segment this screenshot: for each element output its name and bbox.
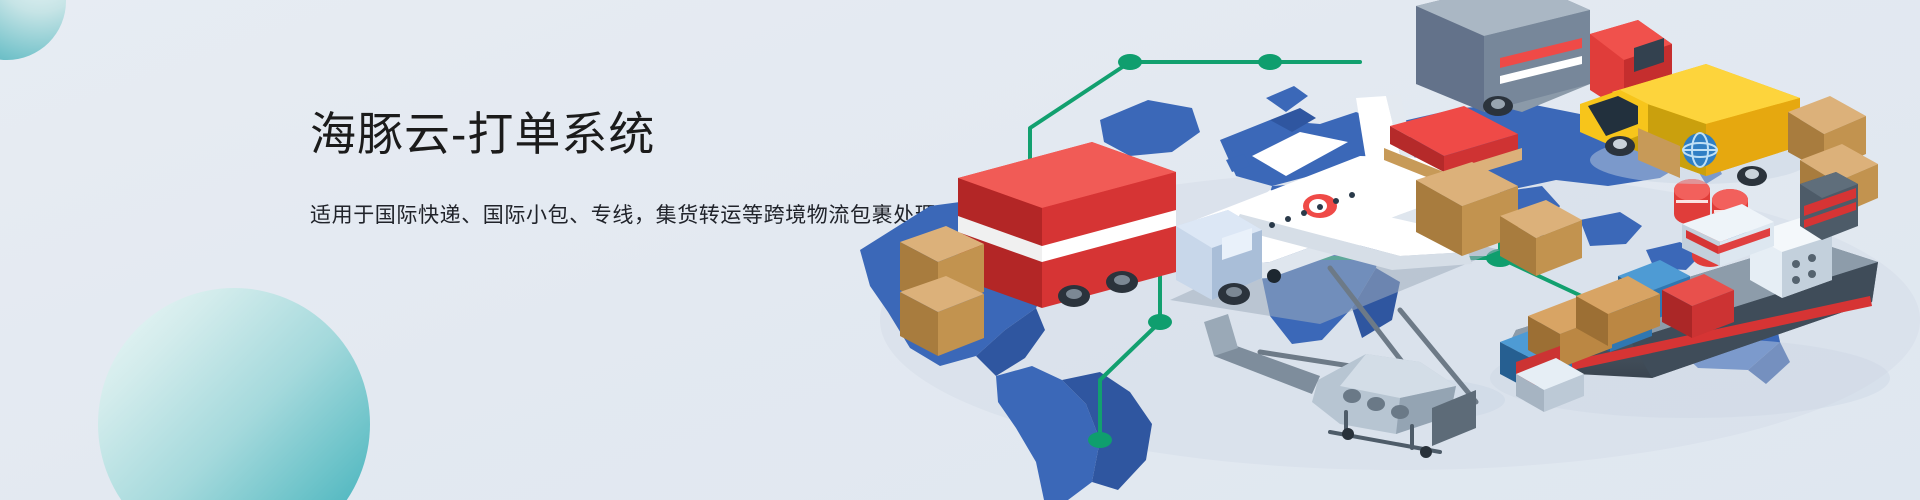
decorative-circle-bottom-left: [98, 288, 370, 500]
hero-banner: 海豚云-打单系统 适用于国际快递、国际小包、专线，集货转运等跨境物流包裹处理: [0, 0, 1920, 500]
logistics-illustration: [800, 0, 1920, 500]
decorative-circle-top-left: [0, 0, 66, 60]
cardboard-box-stack: [900, 226, 984, 356]
